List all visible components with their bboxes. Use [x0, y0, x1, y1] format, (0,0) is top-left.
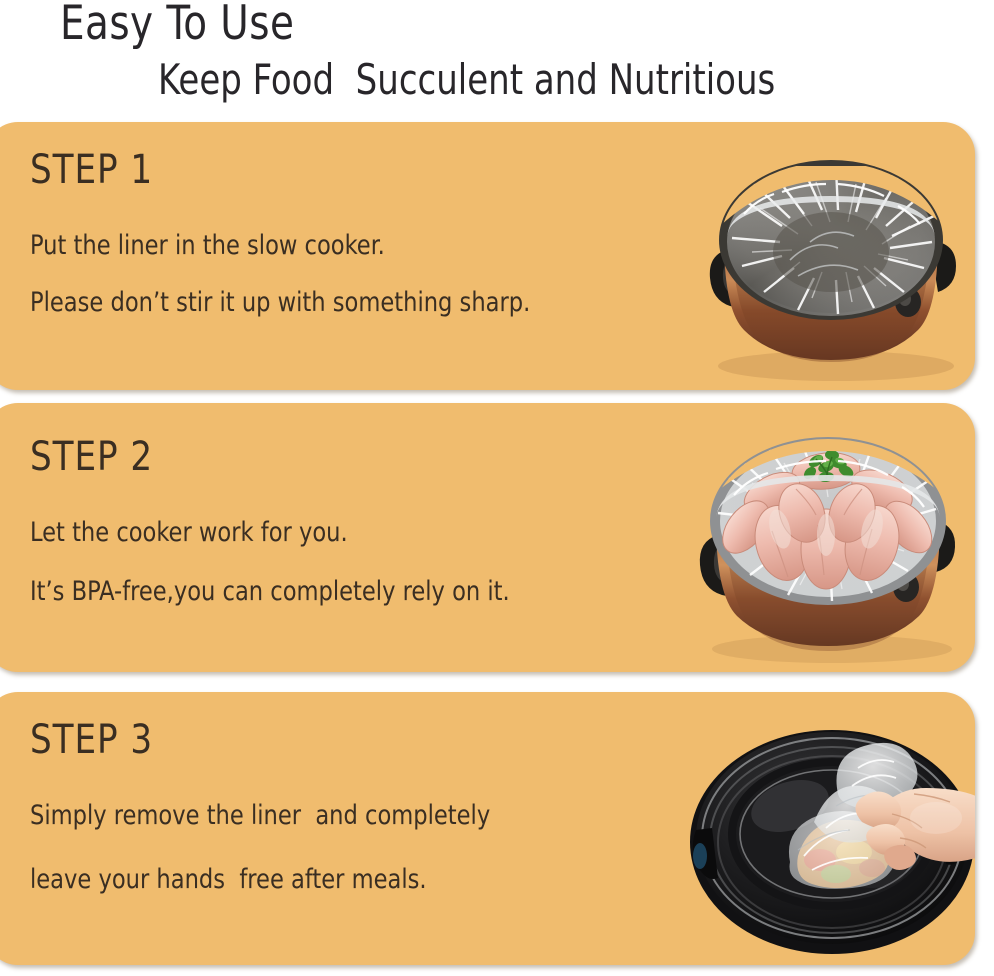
step-3-photo-removing-liner-bag: [686, 710, 975, 962]
step-1-photo-slow-cooker-with-liner: [686, 130, 975, 390]
page-subtitle: Keep Food Succulent and Nutritious: [158, 55, 775, 105]
infographic-page: Easy To Use Keep Food Succulent and Nutr…: [0, 0, 994, 976]
step-3-heading: STEP 3: [30, 718, 153, 762]
page-title: Easy To Use: [60, 0, 294, 51]
step-2-photo-chicken-in-lined-cooker: [676, 409, 975, 672]
step-panel-2: STEP 2 Let the cooker work for you. It’s…: [0, 403, 975, 672]
step-2-line-a: Let the cooker work for you.: [30, 517, 348, 549]
step-panel-1: STEP 1 Put the liner in the slow cooker.…: [0, 122, 975, 390]
step-2-heading: STEP 2: [30, 435, 153, 479]
step-3-line-a: Simply remove the liner and completely: [30, 800, 490, 832]
step-1-heading: STEP 1: [30, 148, 153, 192]
step-1-line-b: Please don’t stir it up with something s…: [30, 287, 530, 319]
step-3-line-b: leave your hands free after meals.: [30, 864, 427, 896]
header: Easy To Use Keep Food Succulent and Nutr…: [0, 0, 994, 118]
step-2-line-b: It’s BPA-free,you can completely rely on…: [30, 576, 510, 608]
step-1-line-a: Put the liner in the slow cooker.: [30, 230, 385, 262]
step-panel-3: STEP 3 Simply remove the liner and compl…: [0, 692, 975, 965]
